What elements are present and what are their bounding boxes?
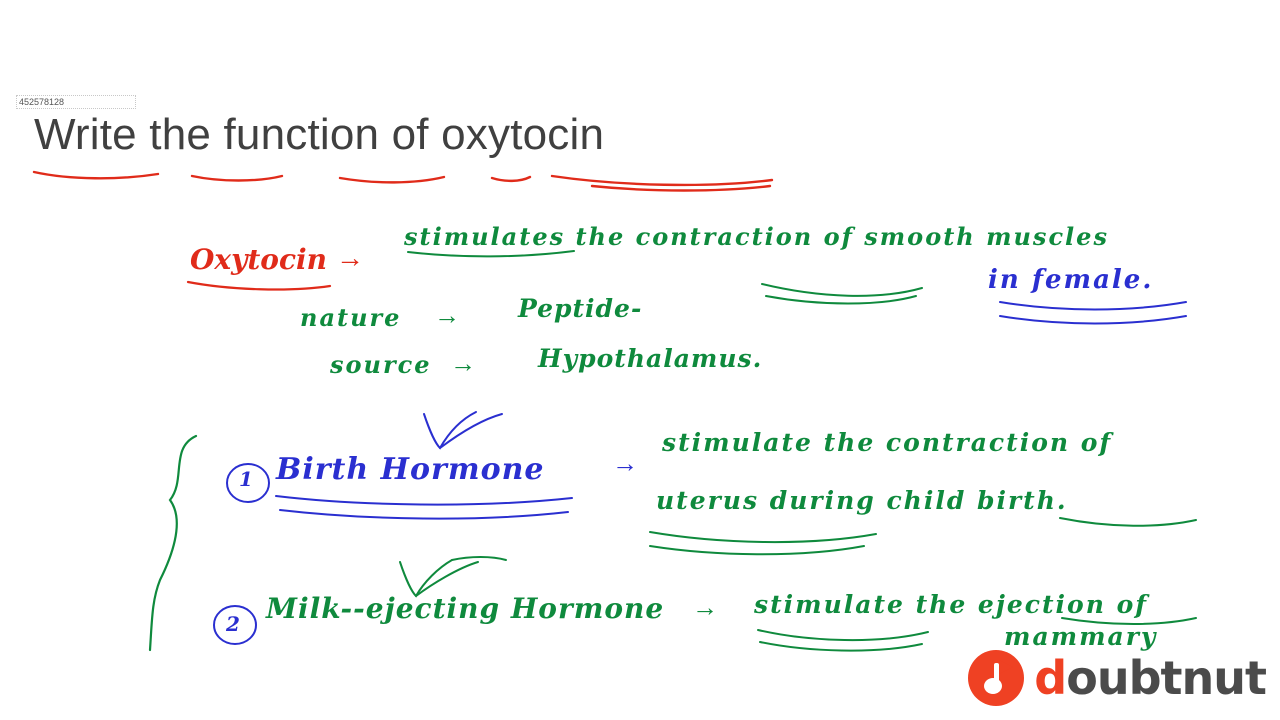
doubtnut-logo-icon [968, 650, 1024, 706]
handwriting-nature-value: Peptide- [518, 294, 642, 323]
doubtnut-logo: doubtnut [968, 650, 1266, 706]
handwriting-point2-number: 2 [226, 612, 240, 636]
handwriting-line1-rest2: in female. [988, 265, 1153, 295]
logo-text-part1: d [1034, 651, 1066, 705]
handwriting-arrow-1: → [336, 242, 364, 274]
handwriting-oxytocin-term: Oxytocin [190, 243, 327, 276]
flag-icon [999, 660, 1013, 674]
doubtnut-logo-text: doubtnut [1034, 651, 1266, 705]
logo-text-part2: oubtnut [1066, 651, 1266, 705]
page-title: Write the function of oxytocin [34, 110, 604, 160]
handwriting-source-label: source [330, 350, 432, 379]
question-block: 452578128 Write the function of oxytocin [8, 96, 776, 216]
handwriting-arrow-3: → [450, 348, 476, 379]
handwriting-point2-text-line1: stimulate the ejection of [754, 590, 1148, 619]
handwriting-arrow-2: → [434, 300, 460, 331]
handwriting-point2-text-line2: mammary [1004, 622, 1157, 651]
handwriting-point1-title: Birth Hormone [276, 452, 544, 487]
handwriting-point1-text-line1: stimulate the contraction of [662, 428, 1112, 457]
handwriting-point1-text-line2: uterus during child birth. [656, 486, 1068, 515]
handwriting-arrow-5: → [692, 592, 718, 623]
handwriting-source-value: Hypothalamus. [538, 344, 762, 373]
question-id: 452578128 [16, 95, 136, 109]
handwriting-point1-number: 1 [239, 467, 253, 491]
handwriting-arrow-4: → [612, 448, 638, 479]
handwriting-line1-rest: stimulates the contraction of smooth mus… [404, 222, 1109, 251]
handwriting-nature-label: nature [300, 303, 401, 332]
handwriting-point2-title: Milk--ejecting Hormone [266, 592, 664, 625]
